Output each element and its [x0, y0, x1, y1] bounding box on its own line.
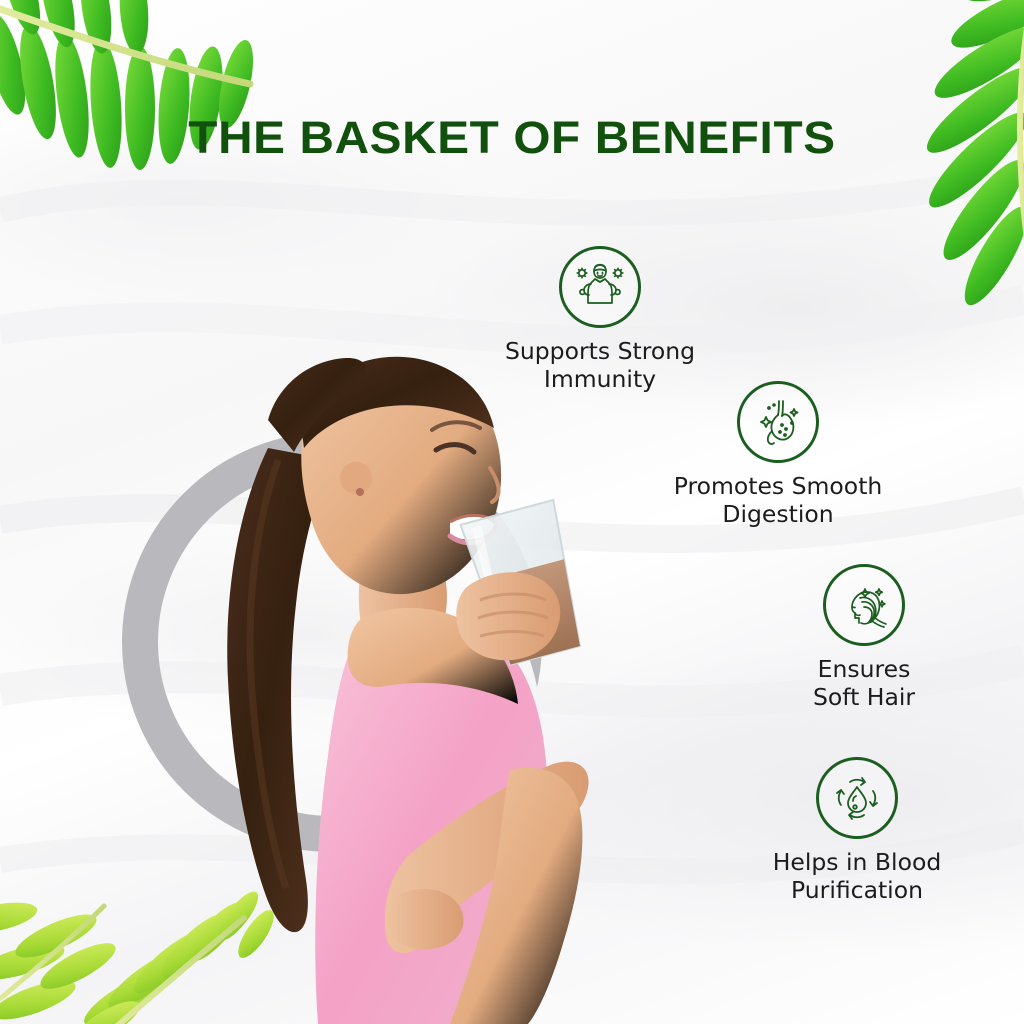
benefits-poster: THE BASKET OF BENEFITS — [0, 0, 1024, 1024]
benefit-label: Helps in Blood Purification — [697, 848, 1017, 905]
benefit-icon-circle — [823, 564, 905, 646]
benefit-label: Promotes Smooth Digestion — [598, 472, 958, 529]
hair-strand-face-icon — [835, 576, 893, 634]
benefit-item-blood-purification[interactable]: Helps in Blood Purification — [697, 757, 1017, 905]
benefit-label: Ensures Soft Hair — [724, 655, 1004, 712]
benefit-item-immunity[interactable]: Supports Strong Immunity — [420, 246, 780, 394]
page-title: THE BASKET OF BENEFITS — [0, 112, 1024, 164]
benefit-icon-circle — [816, 757, 898, 839]
benefit-item-hair[interactable]: Ensures Soft Hair — [724, 564, 1004, 712]
immunity-muscle-person-icon — [570, 257, 630, 317]
benefit-item-digestion[interactable]: Promotes Smooth Digestion — [598, 381, 958, 529]
stomach-digestion-icon — [749, 393, 807, 451]
benefit-icon-circle — [559, 246, 641, 328]
benefit-icon-circle — [737, 381, 819, 463]
blood-drop-recycle-icon — [828, 769, 886, 827]
